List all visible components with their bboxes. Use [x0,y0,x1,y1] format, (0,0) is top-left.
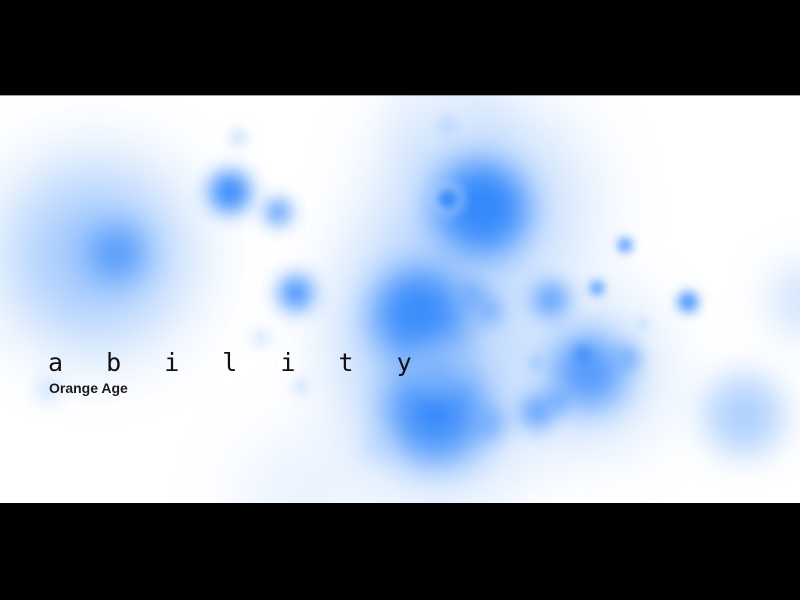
bokeh-blob-right-glow [522,306,654,438]
bokeh-dot-mid-left-pale [253,330,269,346]
bokeh-dot-bottom-pair-b [546,390,568,412]
bokeh-circle-upper-left [209,171,251,213]
bokeh-dot-top-ring-core [440,192,454,206]
bokeh-blob-left-large-soft [7,167,183,343]
bokeh-blob-left-core [91,227,143,279]
bokeh-blob-top-big-core [435,163,527,255]
bokeh-dot-center-right-a [459,282,485,308]
bokeh-dot-lower-center-left [364,431,392,459]
bokeh-dot-right-core-hot [575,346,591,362]
bokeh-dot-center-right-b [476,298,502,324]
bokeh-blob-bottom-right [704,375,784,455]
letterbox-bar-bottom [0,503,800,600]
bokeh-blob-top-big-glow [388,115,578,305]
bokeh-blob-center-core [375,272,463,360]
bokeh-blob-bottom-center-faint [240,435,360,503]
video-content-area: a b i l i t y Orange Age [0,95,800,503]
video-subtitle: Orange Age [49,381,426,395]
video-title: a b i l i t y [48,350,426,375]
bokeh-circle-mid-left [279,276,313,310]
bokeh-dot-lower-center-core [424,403,444,423]
bokeh-circle-right-upper [534,283,568,317]
frame-seam-line [0,95,800,96]
bokeh-blob-far-right-edge [772,266,800,334]
bokeh-dot-bottom-pair-a [521,396,553,428]
caption-block: a b i l i t y Orange Age [48,350,426,395]
bokeh-halo-top-center-core [438,116,456,134]
bokeh-dot-upper-left-pale [229,129,247,147]
bokeh-halo-top-center [395,95,499,177]
bokeh-dot-mid-right-a [618,238,632,252]
bokeh-blob-right-core [554,337,624,407]
bokeh-dot-mid-right-b [590,281,604,295]
bokeh-dot-right-left-small [530,357,542,369]
bokeh-dot-right-edge [617,347,639,369]
bokeh-dot-mid-right-c [678,292,698,312]
letterbox-bar-top [0,0,800,95]
video-frame: a b i l i t y Orange Age [0,0,800,600]
bokeh-dot-lower-center-right [474,408,504,438]
bokeh-ring-top-left-small [430,182,464,216]
bokeh-circle-upper-left-sm [265,199,291,225]
bokeh-dot-mid-right-d [638,319,648,329]
